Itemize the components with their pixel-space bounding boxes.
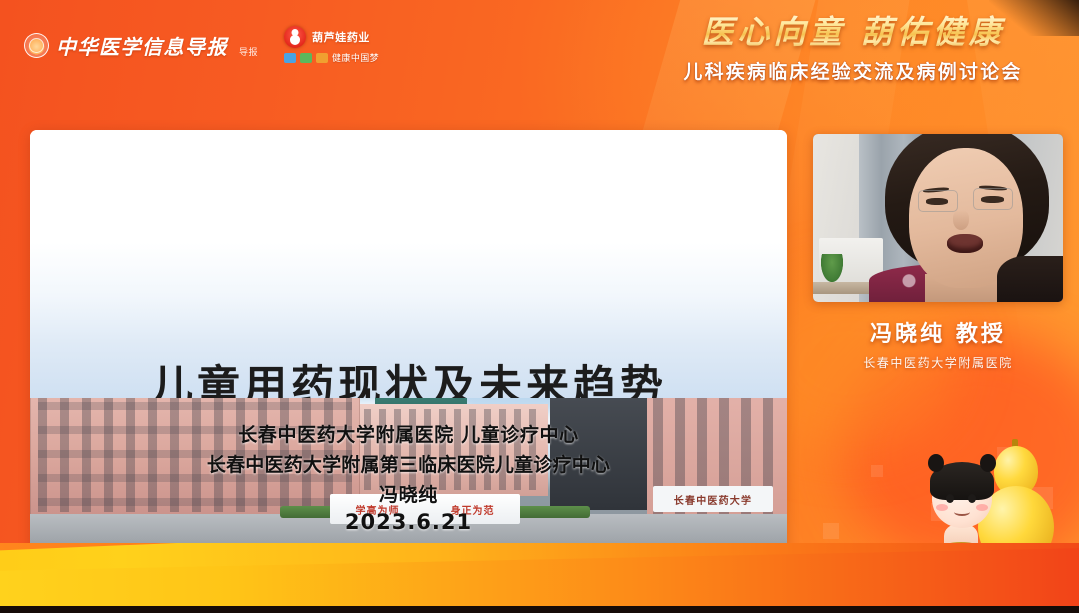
speaker-affiliation: 长春中医药大学附属医院 <box>813 354 1063 371</box>
secondary-sponsor-name: 葫芦娃药业 <box>312 29 370 45</box>
event-subtitle: 儿科疾病临床经验交流及病例讨论会 <box>643 57 1063 84</box>
chip-decoration <box>300 53 312 63</box>
mascot-eye <box>946 494 954 503</box>
speaker-caption: 冯晓纯 教授 长春中医药大学附属医院 <box>813 316 1063 371</box>
medical-association-seal-icon <box>24 33 49 58</box>
bottom-edge-strip <box>0 606 1079 613</box>
square-decoration <box>823 523 839 539</box>
mascot-eye <box>968 494 976 503</box>
webcam-speaker-nose <box>953 210 969 230</box>
mascot-smile <box>954 508 970 516</box>
slide-subtitle-line-2: 长春中医药大学附属第三临床医院儿童诊疗中心 <box>30 450 787 477</box>
mascot-blush <box>936 504 948 511</box>
webcam-plant <box>821 254 843 282</box>
chip-decoration <box>284 53 296 63</box>
mascot-blush <box>976 504 988 511</box>
event-title-block: 医心向童 葫佑健康 儿科疾病临床经验交流及病例讨论会 <box>643 14 1063 84</box>
sponsor-logo-bar: 中华医学信息导报 导报 葫芦娃药业 健康中国梦 <box>24 26 379 64</box>
slide-subtitle-line-1: 长春中医药大学附属医院 儿童诊疗中心 <box>30 420 787 447</box>
gourd-badge-icon <box>284 26 306 48</box>
event-gold-title: 医心向童 葫佑健康 <box>643 14 1063 51</box>
slide-presenter-name: 冯晓纯 <box>30 480 787 507</box>
webcam-speaker-eye <box>926 198 948 205</box>
primary-sponsor-name: 中华医学信息导报 <box>56 31 228 60</box>
slide-date: 2023.6.21 <box>30 510 787 534</box>
secondary-sponsor-tagline: 健康中国梦 <box>332 51 379 64</box>
broadcast-stage: 中华医学信息导报 导报 葫芦娃药业 健康中国梦 医心向童 葫佑健康 儿科疾病临床… <box>0 0 1079 613</box>
speaker-name: 冯晓纯 教授 <box>813 316 1063 348</box>
slide-subtitle-block: 长春中医药大学附属医院 儿童诊疗中心 长春中医药大学附属第三临床医院儿童诊疗中心… <box>30 420 787 534</box>
speaker-webcam-feed[interactable] <box>813 134 1063 302</box>
secondary-sponsor-logo: 葫芦娃药业 健康中国梦 <box>284 26 379 64</box>
webcam-speaker-eye <box>981 196 1004 203</box>
square-decoration <box>871 465 883 477</box>
bottom-decorative-bands <box>0 543 1079 613</box>
webcam-speaker-shoulder <box>997 256 1063 302</box>
mascot-hair-bun <box>928 454 944 472</box>
mascot-hair-bun <box>980 454 996 472</box>
primary-sponsor-suffix: 导报 <box>239 45 258 60</box>
presentation-slide[interactable]: 儿童用药现状及未来趋势 学高为师 身正为范 长春中医药大学 长春中医药大学附属医… <box>30 130 787 558</box>
chip-decoration <box>316 53 328 63</box>
primary-sponsor-logo: 中华医学信息导报 导报 <box>24 31 258 60</box>
webcam-speaker-mouth <box>947 234 983 253</box>
